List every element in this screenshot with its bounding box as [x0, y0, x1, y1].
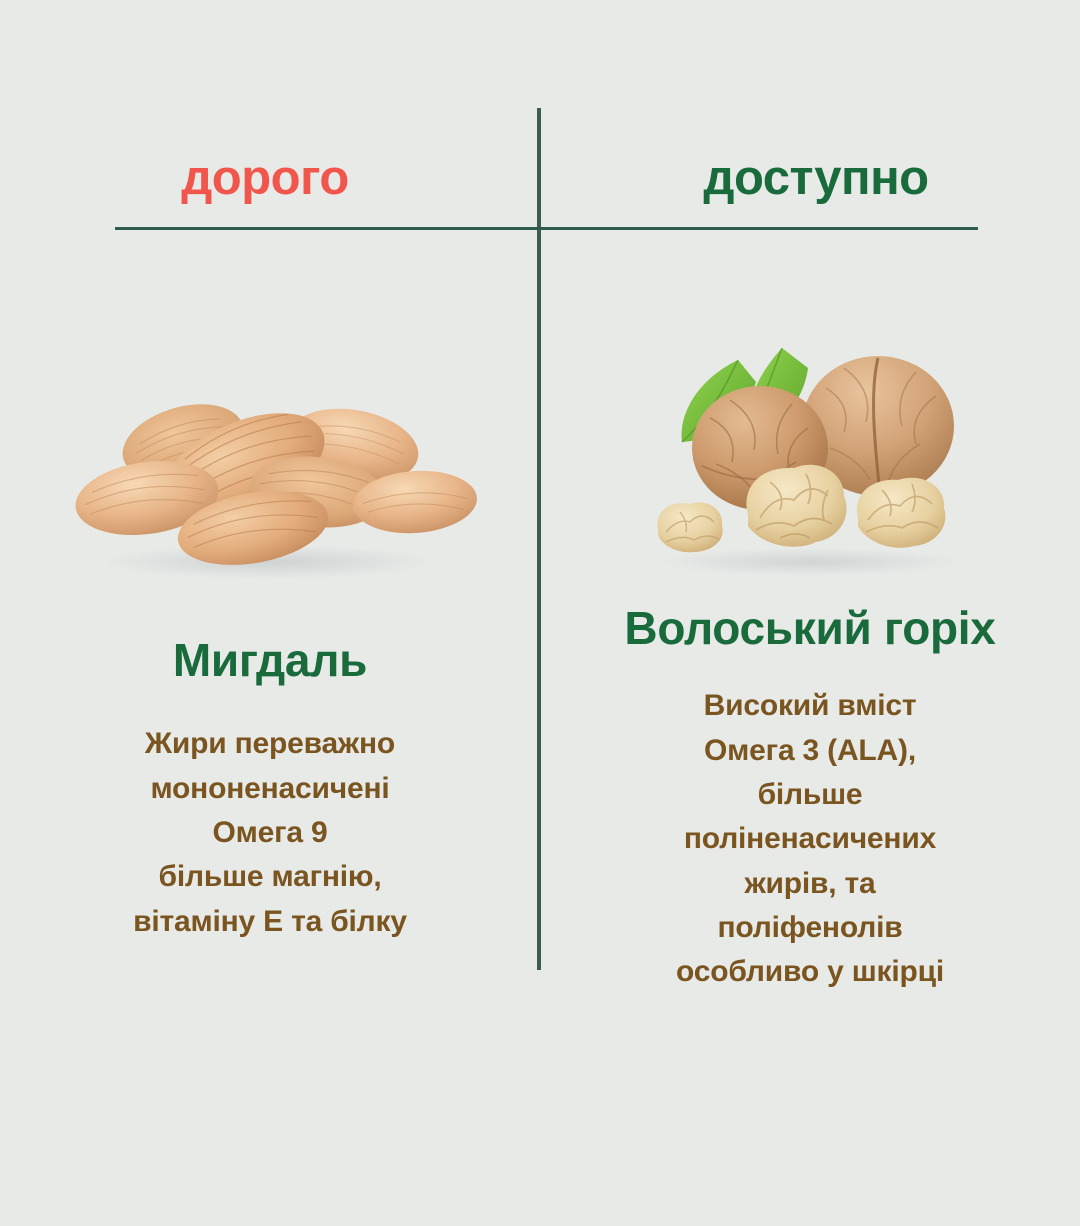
comparison-columns: Мигдаль Жири переважно мононенасичені Ом…	[0, 250, 1080, 995]
walnut-title-line-2: горіх	[884, 602, 996, 654]
walnut-desc-line-2: Омега 3 (ALA),	[676, 729, 944, 773]
almond-desc-line-2: мононенасичені	[133, 767, 407, 811]
walnut-description: Високий вміст Омега 3 (ALA), більше полі…	[676, 684, 944, 995]
walnut-kernel-right	[857, 478, 945, 548]
walnut-kernel-left	[657, 502, 722, 552]
walnut-desc-line-4: поліненасичених	[676, 817, 944, 861]
horizontal-divider	[115, 227, 978, 230]
almonds-illustration	[0, 250, 540, 580]
walnuts-illustration	[540, 250, 1080, 580]
walnut-desc-line-3: більше	[676, 773, 944, 817]
column-walnut: Волоський горіх Високий вміст Омега 3 (A…	[540, 250, 1080, 995]
header-affordable: доступно	[540, 143, 1080, 213]
walnut-kernel-center	[746, 465, 846, 547]
walnut-desc-line-7: особливо у шкірці	[676, 950, 944, 994]
walnut-desc-line-1: Високий вміст	[676, 684, 944, 728]
almond-desc-line-1: Жири переважно	[133, 722, 407, 766]
almond-desc-line-4: більше магнію,	[133, 855, 407, 899]
walnut-title: Волоський горіх	[624, 600, 995, 656]
almond-description: Жири переважно мононенасичені Омега 9 бі…	[133, 722, 407, 944]
column-almond: Мигдаль Жири переважно мононенасичені Ом…	[0, 250, 540, 995]
walnut-desc-line-6: поліфенолів	[676, 906, 944, 950]
walnut-title-line-1: Волоський	[624, 602, 871, 654]
infographic-canvas: дорого доступно	[0, 0, 1080, 1226]
comparison-header-row: дорого доступно	[0, 143, 1080, 213]
almond-desc-line-3: Омега 9	[133, 811, 407, 855]
almond-title: Мигдаль	[173, 632, 367, 688]
almond-desc-line-5: вітаміну Е та білку	[133, 900, 407, 944]
header-expensive: дорого	[0, 143, 540, 213]
walnut-desc-line-5: жирів, та	[676, 862, 944, 906]
